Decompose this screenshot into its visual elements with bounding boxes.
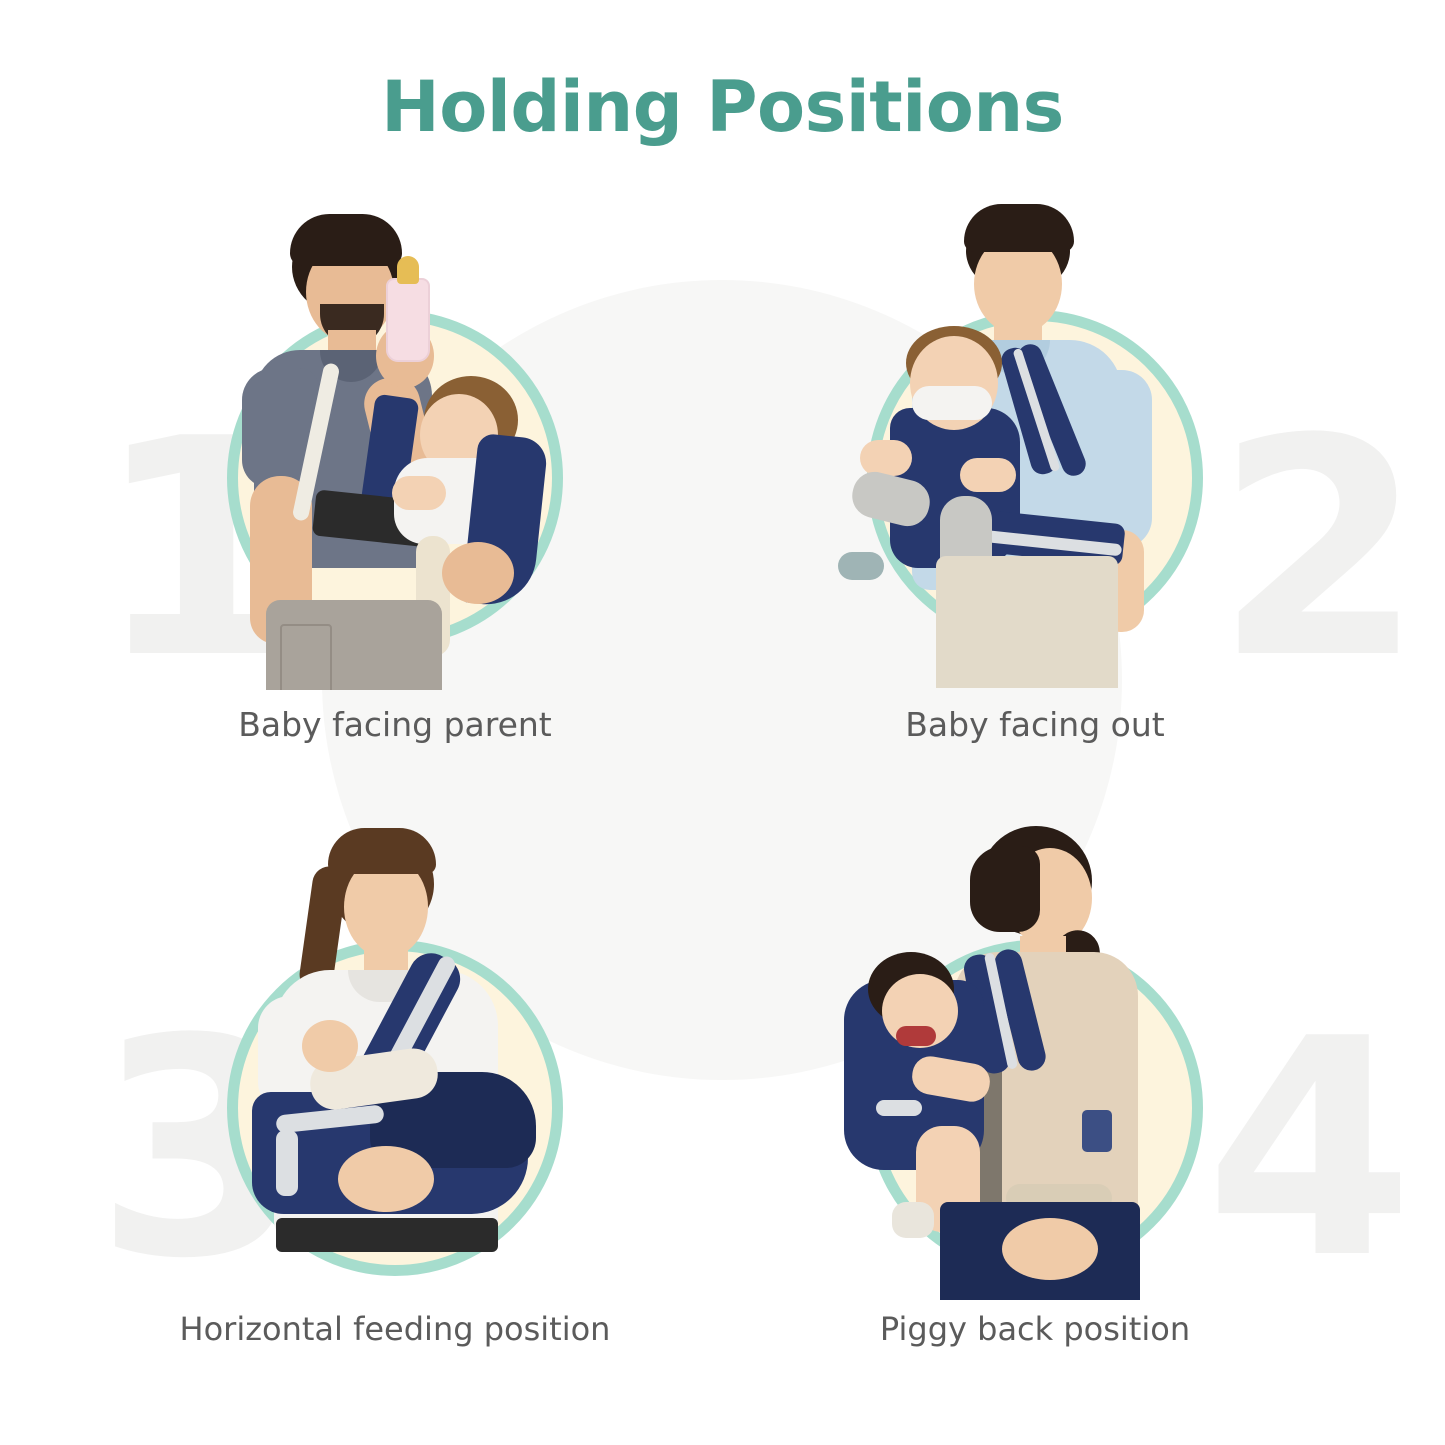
jeans-pocket <box>280 624 332 690</box>
caption-3: Horizontal feeding position <box>156 1310 634 1348</box>
woman3-hair-top <box>328 828 436 874</box>
photo-illustration-4 <box>820 810 1250 1300</box>
baby4-shoe <box>892 1202 934 1238</box>
caption-4: Piggy back position <box>808 1310 1262 1348</box>
carrier4-side-buckle <box>1082 1110 1112 1152</box>
woman3-hand-support <box>338 1146 434 1212</box>
baby-bottle <box>386 278 430 362</box>
baby-arm <box>392 476 446 510</box>
page-title-container: Holding Positions <box>0 72 1445 142</box>
photo-illustration-1 <box>180 200 610 690</box>
caption-2: Baby facing out <box>820 705 1250 744</box>
man2-trousers <box>936 556 1118 688</box>
page-title: Holding Positions <box>381 72 1064 142</box>
woman3-hand-upper <box>302 1020 358 1072</box>
man2-hair-top <box>964 204 1074 252</box>
baby2-right-arm <box>960 458 1016 492</box>
position-card-4: Piggy back position <box>820 810 1250 1390</box>
woman4-braid <box>970 846 1040 932</box>
man-support-hand <box>442 542 514 604</box>
position-card-3: Horizontal feeding position <box>180 810 610 1390</box>
carrier3-vertical-strap <box>276 1130 298 1196</box>
holding-positions-infographic: Holding Positions 1 2 3 4 <box>0 0 1445 1445</box>
woman3-belt <box>276 1218 498 1252</box>
position-card-1: Baby facing parent <box>180 200 610 780</box>
baby2-left-arm <box>860 440 912 476</box>
baby4-bib <box>896 1026 936 1046</box>
man-hair-top <box>290 214 402 266</box>
photo-illustration-2 <box>820 200 1250 690</box>
baby2-left-sock <box>838 552 884 580</box>
carrier4-baby-strap-trim <box>876 1100 922 1116</box>
woman4-hands-front <box>1002 1218 1098 1280</box>
baby2-collar <box>912 386 992 420</box>
bottle-nipple-icon <box>397 256 419 284</box>
caption-1: Baby facing parent <box>180 705 610 744</box>
photo-illustration-3 <box>180 810 610 1300</box>
position-card-2: Baby facing out <box>820 200 1250 780</box>
